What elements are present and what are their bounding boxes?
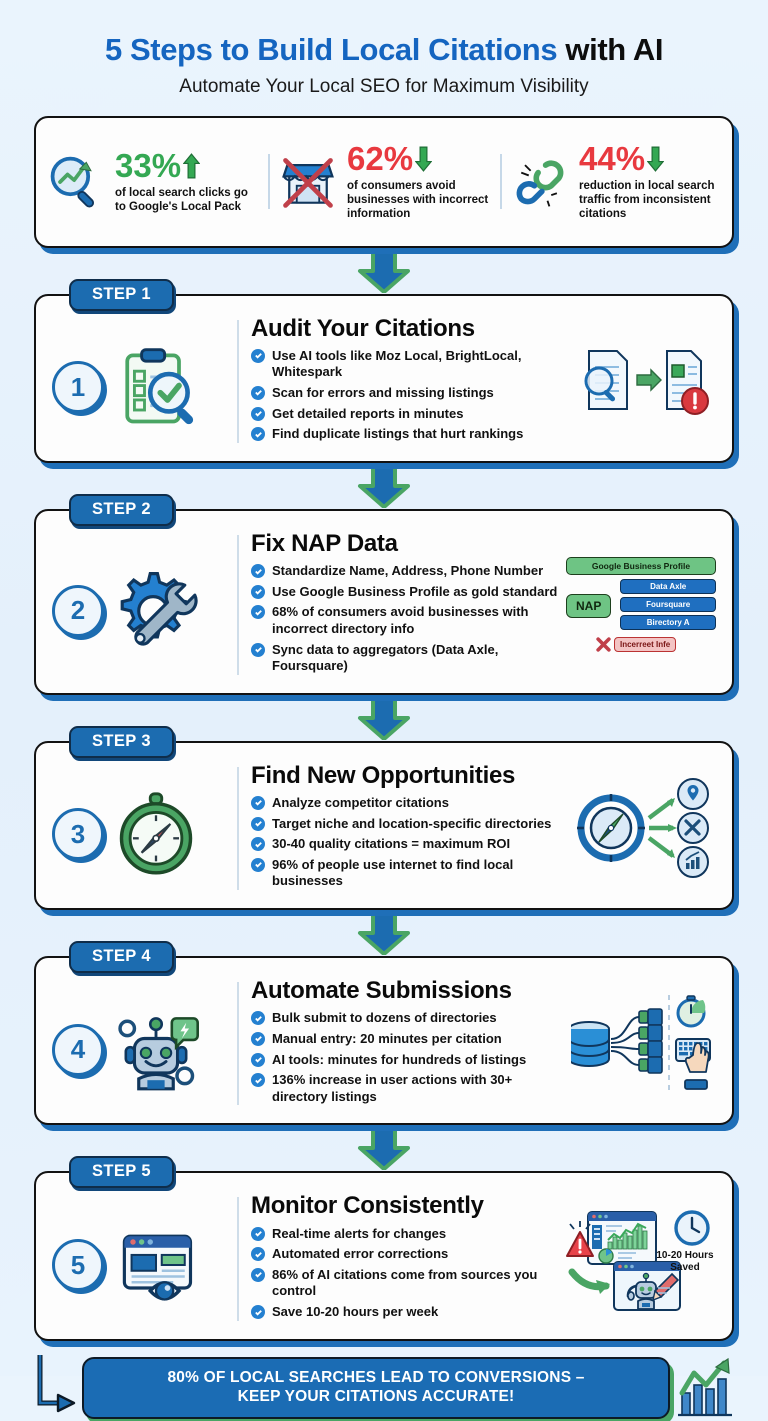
- step-title: Find New Opportunities: [251, 763, 566, 788]
- stat-description: reduction in local search traffic from i…: [579, 179, 722, 221]
- bullet-item: Automated error corrections: [251, 1246, 566, 1263]
- clock-icon: [672, 1208, 712, 1248]
- bullet-item: Target niche and location-specific direc…: [251, 816, 566, 833]
- step-badge: STEP 1: [69, 279, 174, 311]
- stat-value: 62%: [347, 142, 490, 175]
- stat-value: 33%: [115, 149, 258, 182]
- stat-item: 33% of local search clicks go to Google'…: [36, 149, 268, 214]
- check-icon: [251, 564, 265, 578]
- check-icon: [251, 585, 265, 599]
- document-scan-error-icon: [571, 343, 711, 419]
- down-arrow-icon: [356, 249, 412, 293]
- check-icon: [251, 858, 265, 872]
- page-title-rest: with AI: [557, 32, 663, 67]
- check-icon: [251, 1305, 265, 1319]
- step-badge: STEP 3: [69, 726, 174, 758]
- bottom-banner-line1: 80% OF LOCAL SEARCHES LEAD TO CONVERSION…: [98, 1369, 654, 1388]
- arrow-down-icon: [647, 146, 664, 172]
- check-icon: [251, 386, 265, 400]
- nap-diagram: Google Business Profile NAP Data Axle Fo…: [566, 557, 716, 652]
- check-icon: [251, 1032, 265, 1046]
- stat-item: 44% reduction in local search traffic fr…: [500, 142, 732, 221]
- step-card-2[interactable]: STEP 2 2 Fix NAP Data Standardize Name, …: [34, 509, 734, 695]
- magnifier-growth-icon: [46, 152, 106, 212]
- x-mark-icon: [596, 637, 611, 652]
- nap-bad-label: Incerreet Infe: [614, 637, 676, 652]
- step-badge: STEP 2: [69, 494, 174, 526]
- hours-saved-label: 10-20 Hours Saved: [654, 1250, 716, 1273]
- step-number: 5: [52, 1239, 104, 1291]
- step-aside: 10-20 Hours Saved: [566, 1193, 716, 1324]
- step-title: Monitor Consistently: [251, 1193, 566, 1218]
- bottom-banner-line2: KEEP YOUR CITATIONS ACCURATE!: [98, 1388, 654, 1407]
- check-icon: [251, 1227, 265, 1241]
- page-title: 5 Steps to Build Local Citations with AI: [0, 34, 768, 67]
- bullet-item: 68% of consumers avoid businesses with i…: [251, 604, 566, 637]
- down-arrow-icon: [356, 464, 412, 508]
- check-icon: [251, 427, 265, 441]
- bullet-item: 136% increase in user actions with 30+ d…: [251, 1072, 566, 1105]
- bullet-item: Bulk submit to dozens of directories: [251, 1010, 566, 1027]
- step-title: Automate Submissions: [251, 978, 566, 1003]
- check-icon: [251, 605, 265, 619]
- arrow-up-icon: [183, 153, 200, 179]
- check-icon: [251, 1247, 265, 1261]
- robot-gears-icon: [110, 1004, 202, 1096]
- step-aside: [566, 763, 716, 894]
- crossed-out-storefront-icon: [278, 152, 338, 212]
- page-title-highlight: 5 Steps to Build Local Citations: [105, 32, 557, 67]
- bullet-item: Scan for errors and missing listings: [251, 385, 566, 402]
- bullet-item: Use Google Business Profile as gold stan…: [251, 584, 566, 601]
- step-aside: [566, 316, 716, 447]
- step-badge: STEP 4: [69, 941, 174, 973]
- bullet-item: Sync data to aggregators (Data Axle, Fou…: [251, 642, 566, 675]
- stat-item: 62% of consumers avoid businesses with i…: [268, 142, 500, 221]
- nap-chip: Foursquare: [620, 597, 716, 612]
- check-icon: [251, 796, 265, 810]
- bullet-item: Manual entry: 20 minutes per citation: [251, 1031, 566, 1048]
- check-icon: [251, 817, 265, 831]
- database-keyboard-timer-icon: [571, 991, 711, 1097]
- step-aside: Google Business Profile NAP Data Axle Fo…: [566, 531, 716, 679]
- stat-description: of consumers avoid businesses with incor…: [347, 179, 490, 221]
- check-icon: [251, 1053, 265, 1067]
- stat-description: of local search clicks go to Google's Lo…: [115, 186, 258, 214]
- step-badge: STEP 5: [69, 1156, 174, 1188]
- bullet-item: Analyze competitor citations: [251, 795, 566, 812]
- arrow-down-icon: [415, 146, 432, 172]
- bullet-item: 86% of AI citations come from sources yo…: [251, 1267, 566, 1300]
- check-icon: [251, 643, 265, 657]
- bottom-banner[interactable]: 80% OF LOCAL SEARCHES LEAD TO CONVERSION…: [82, 1357, 670, 1419]
- step-number: 4: [52, 1024, 104, 1076]
- check-icon: [251, 1073, 265, 1087]
- growth-bar-chart-icon: [676, 1357, 734, 1419]
- check-icon: [251, 1011, 265, 1025]
- nap-chip: Birectory A: [620, 615, 716, 630]
- nap-center-node: NAP: [566, 594, 611, 618]
- clipboard-checklist-magnifier-icon: [110, 341, 202, 433]
- bullet-item: Real-time alerts for changes: [251, 1226, 566, 1243]
- step-number: 2: [52, 585, 104, 637]
- nap-gbp-node: Google Business Profile: [566, 557, 716, 575]
- compass-icon: [110, 788, 202, 880]
- dashboard-eye-icon: [110, 1219, 202, 1311]
- bullet-item: 96% of people use internet to find local…: [251, 857, 566, 890]
- nap-chip: Data Axle: [620, 579, 716, 594]
- page-header: 5 Steps to Build Local Citations with AI…: [0, 0, 768, 98]
- step-number: 3: [52, 808, 104, 860]
- broken-chain-link-icon: [510, 152, 570, 212]
- step-title: Audit Your Citations: [251, 316, 566, 341]
- page-subtitle: Automate Your Local SEO for Maximum Visi…: [0, 76, 768, 98]
- step-card-1[interactable]: STEP 1 1 Audit Your Citations Use AI too: [34, 294, 734, 463]
- bullet-item: Standardize Name, Address, Phone Number: [251, 563, 566, 580]
- step-card-3[interactable]: STEP 3 3 Find New Opportunities Analyze: [34, 741, 734, 910]
- bullet-item: AI tools: minutes for hundreds of listin…: [251, 1052, 566, 1069]
- step-card-4[interactable]: STEP 4 4 Automat: [34, 956, 734, 1125]
- bullet-item: Find duplicate listings that hurt rankin…: [251, 426, 566, 443]
- step-title: Fix NAP Data: [251, 531, 566, 556]
- check-icon: [251, 1268, 265, 1282]
- down-arrow-icon: [356, 696, 412, 740]
- step-card-5[interactable]: STEP 5 5 Monitor Consistently Real-time …: [34, 1171, 734, 1340]
- nap-incorrect-info: Incerreet Infe: [596, 637, 716, 652]
- step-aside: [566, 978, 716, 1109]
- bullet-item: Get detailed reports in minutes: [251, 406, 566, 423]
- check-icon: [251, 837, 265, 851]
- check-icon: [251, 349, 265, 363]
- down-arrow-icon: [356, 1126, 412, 1170]
- bullet-item: 30-40 quality citations = maximum ROI: [251, 836, 566, 853]
- curved-arrow-icon: [34, 1355, 76, 1421]
- down-arrow-icon: [356, 911, 412, 955]
- bullet-item: Use AI tools like Moz Local, BrightLocal…: [251, 348, 566, 381]
- stats-bar: 33% of local search clicks go to Google'…: [34, 116, 734, 248]
- gear-wrench-icon: [110, 565, 202, 657]
- compass-targets-icon: [569, 774, 713, 882]
- bottom-section: 80% OF LOCAL SEARCHES LEAD TO CONVERSION…: [0, 1355, 768, 1421]
- step-number: 1: [52, 361, 104, 413]
- check-icon: [251, 407, 265, 421]
- bullet-item: Save 10-20 hours per week: [251, 1304, 566, 1321]
- stat-value: 44%: [579, 142, 722, 175]
